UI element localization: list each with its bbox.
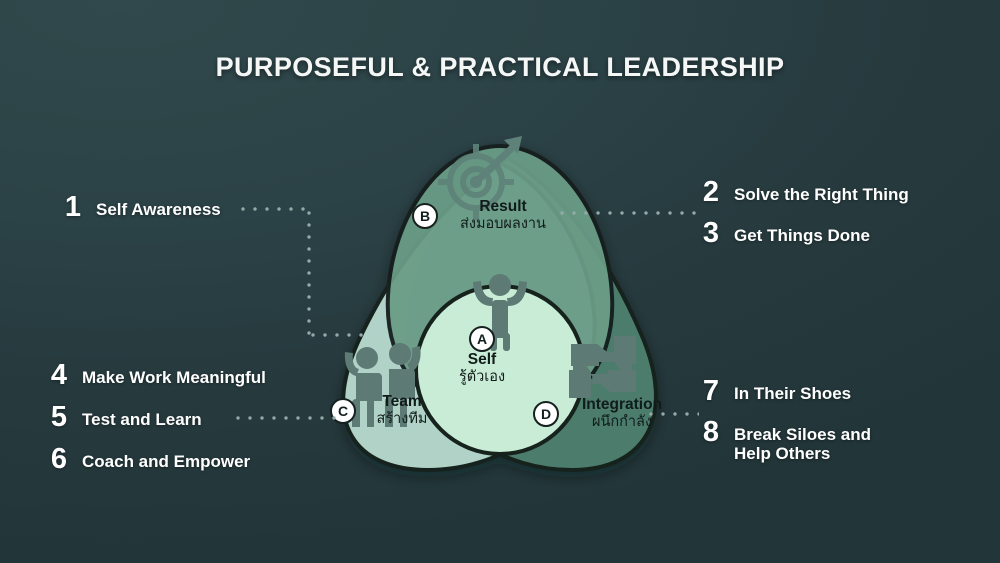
item-number: 8 [698, 418, 724, 447]
list-item-5[interactable]: 5 Test and Learn [46, 403, 202, 432]
list-item-1[interactable]: 1 Self Awareness [60, 193, 221, 222]
connector-self-awareness-to-center [307, 333, 369, 337]
item-number: 7 [698, 377, 724, 406]
item-number: 4 [46, 361, 72, 390]
node-label-self-th: รู้ตัวเอง [427, 368, 537, 386]
item-label: Get Things Done [724, 219, 870, 245]
item-label: Make Work Meaningful [72, 361, 266, 387]
connector-team-to-items [232, 416, 344, 420]
list-item-8[interactable]: 8 Break Siloes and Help Others [698, 418, 871, 463]
item-label: In Their Shoes [724, 377, 851, 403]
item-label: Break Siloes and Help Others [724, 418, 871, 463]
item-label: Coach and Empower [72, 445, 250, 471]
list-item-7[interactable]: 7 In Their Shoes [698, 377, 851, 406]
connector-result-to-items [556, 211, 696, 215]
node-label-team-en: Team [354, 394, 450, 410]
list-item-6[interactable]: 6 Coach and Empower [46, 445, 250, 474]
connector-integration-to-items [645, 412, 699, 416]
list-item-4[interactable]: 4 Make Work Meaningful [46, 361, 266, 390]
item-label: Test and Learn [72, 403, 202, 429]
node-label-result-en: Result [438, 199, 568, 215]
item-label: Solve the Right Thing [724, 178, 909, 204]
connector-self-awareness-horizontal [237, 207, 311, 211]
node-label-team-th: สร้างทีม [354, 410, 450, 428]
item-number: 6 [46, 445, 72, 474]
item-number: 2 [698, 178, 724, 207]
node-badge-d: D [533, 401, 559, 427]
node-label-result-th: ส่งมอบผลงาน [438, 215, 568, 233]
item-number: 1 [60, 193, 86, 222]
leadership-venn-diagram [290, 130, 710, 490]
node-label-integration-en: Integration [559, 397, 685, 413]
node-badge-b: B [412, 203, 438, 229]
item-number: 5 [46, 403, 72, 432]
page-title: PURPOSEFUL & PRACTICAL LEADERSHIP [0, 52, 1000, 83]
item-label: Self Awareness [86, 193, 221, 219]
item-number: 3 [698, 219, 724, 248]
node-badge-a: A [469, 326, 495, 352]
node-label-self-en: Self [427, 352, 537, 368]
list-item-2[interactable]: 2 Solve the Right Thing [698, 178, 909, 207]
diagram-svg [290, 130, 710, 490]
node-badge-c: C [330, 398, 356, 424]
list-item-3[interactable]: 3 Get Things Done [698, 219, 870, 248]
connector-self-awareness-vertical [307, 207, 311, 335]
